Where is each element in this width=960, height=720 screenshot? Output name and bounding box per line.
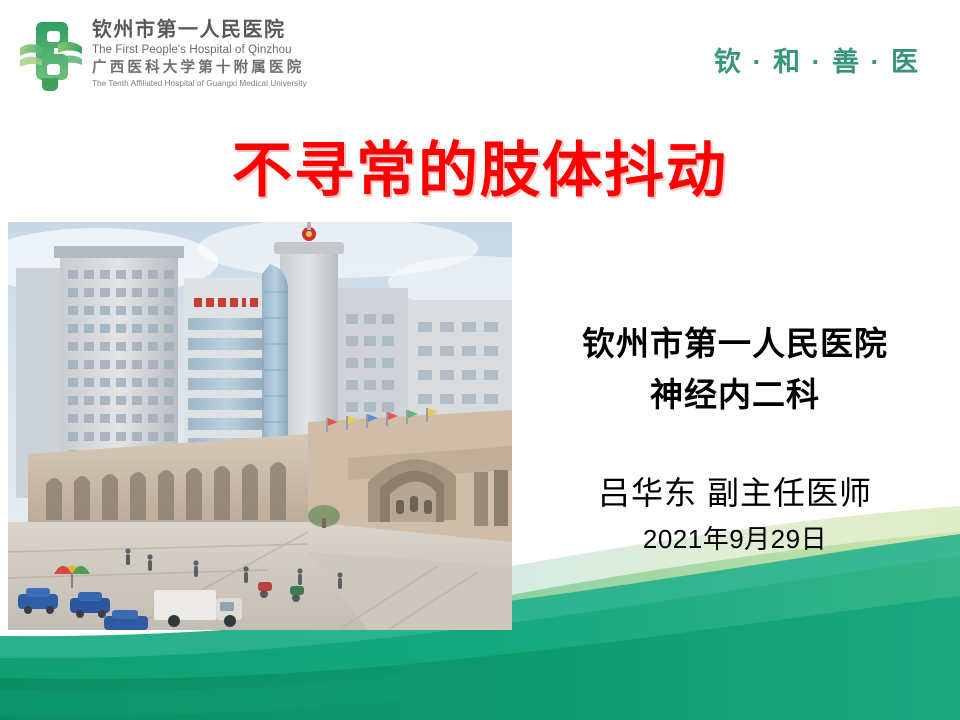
presenter-name: 吕华东 副主任医师	[520, 472, 950, 515]
hospital-logo-text: 钦州市第一人民医院 The First People's Hospital of…	[92, 17, 307, 89]
slide-title: 不寻常的肢体抖动	[0, 122, 960, 209]
hospital-building-photo	[8, 222, 512, 630]
hospital-logo-green-cross-icon	[18, 14, 84, 92]
hospital-name: 钦州市第一人民医院	[520, 318, 950, 369]
hospital-logo: 钦州市第一人民医院 The First People's Hospital of…	[18, 14, 307, 92]
hospital-department-block: 钦州市第一人民医院 神经内二科	[520, 318, 950, 420]
logo-english-subname: The Tenth Affiliated Hospital of Guangxi…	[92, 78, 307, 89]
logo-chinese-name: 钦州市第一人民医院	[92, 19, 307, 42]
presentation-date: 2021年9月29日	[520, 521, 950, 557]
hospital-building-photo-illustration	[8, 222, 512, 630]
presenter-block: 吕华东 副主任医师 2021年9月29日	[520, 472, 950, 558]
logo-english-name: The First People's Hospital of Qinzhou	[92, 42, 307, 59]
logo-chinese-subname: 广西医科大学第十附属医院	[92, 59, 307, 78]
presentation-slide: 钦州市第一人民医院 The First People's Hospital of…	[0, 0, 960, 720]
hospital-slogan: 钦 · 和 · 善 · 医	[714, 40, 920, 79]
department-name: 神经内二科	[520, 369, 950, 420]
